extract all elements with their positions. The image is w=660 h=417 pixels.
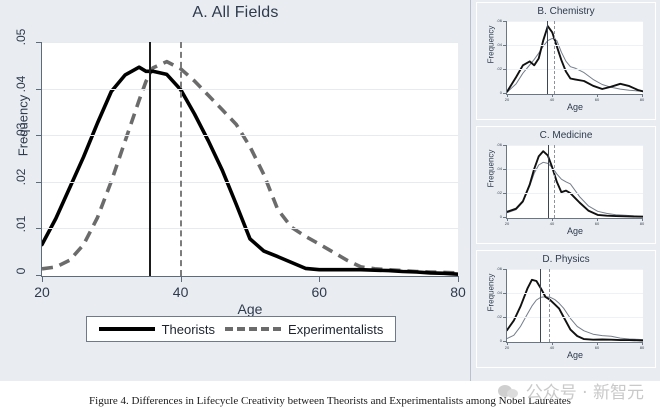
legend-item-theorists: Theorists: [99, 322, 215, 337]
panel-c-y-axis: [506, 145, 507, 219]
y-tick-004: [36, 89, 42, 90]
x-tick-label-20: 20: [22, 284, 62, 300]
panel-a-curves: [42, 42, 458, 276]
panel-b-x-axis-title: Age: [507, 102, 643, 112]
legend-item-experimentalists: Experimentalists: [225, 322, 383, 337]
y-tick-label-001: .01: [14, 211, 28, 237]
y-tick-label-000: 0: [14, 258, 28, 284]
reference-line-theorists-mean: [149, 42, 151, 276]
x-tick-label-40: 40: [161, 284, 201, 300]
panel-a-x-axis: [42, 276, 458, 277]
panel-physics: D. Physics .06 .04 .02 0: [476, 250, 656, 368]
panel-d-x-axis-title: Age: [507, 350, 643, 360]
y-tick-003: [36, 135, 42, 136]
panel-a-plot-area: [42, 42, 458, 276]
panel-c-y-axis-title: Frequency: [487, 139, 496, 199]
legend: Theorists Experimentalists: [86, 316, 396, 342]
panel-chemistry: B. Chemistry .06 .04 .02 0: [476, 2, 656, 120]
reference-line-c-theorists-mean: [548, 145, 549, 218]
panel-b-curves: [507, 21, 643, 94]
gridline-d-006: [507, 269, 643, 270]
panel-b-y-axis-title: Frequency: [487, 15, 496, 75]
y-tick-b-006: [503, 21, 507, 22]
gridline-c-004: [507, 169, 643, 170]
panel-d-x-axis: [507, 342, 643, 343]
legend-label-theorists: Theorists: [162, 322, 215, 337]
gridline-004: [42, 89, 458, 90]
figure-panel: A. All Fields .05: [0, 0, 660, 381]
legend-swatch-solid-line-icon: [99, 327, 155, 331]
panel-d-y-axis: [506, 269, 507, 343]
x-tick-40: [181, 276, 182, 282]
y-tick-label-b-000: 0: [487, 90, 502, 95]
y-tick-002: [36, 182, 42, 183]
y-tick-d-004: [503, 293, 507, 294]
gridline-b-002: [507, 69, 643, 70]
legend-label-experimentalists: Experimentalists: [288, 322, 383, 337]
x-tick-label-60: 60: [299, 284, 339, 300]
y-tick-c-002: [503, 193, 507, 194]
panel-b-plot-area: [507, 21, 643, 94]
panel-d-curves: [507, 269, 643, 342]
gridline-005: [42, 42, 458, 43]
reference-line-d-experimentalists-mean: [549, 269, 550, 342]
panel-b-x-axis: [507, 94, 643, 95]
legend-swatch-dashed-line-icon: [225, 327, 281, 331]
panel-c-x-axis: [507, 218, 643, 219]
x-tick-20: [42, 276, 43, 282]
gridline-b-004: [507, 45, 643, 46]
panel-b-title: B. Chemistry: [477, 6, 655, 17]
gridline-c-002: [507, 193, 643, 194]
gridline-d-002: [507, 317, 643, 318]
y-tick-d-002: [503, 317, 507, 318]
panel-d-title: D. Physics: [477, 254, 655, 265]
panel-b-y-axis: [506, 21, 507, 95]
panel-d-plot-area: [507, 269, 643, 342]
panel-c-x-axis-title: Age: [507, 226, 643, 236]
y-tick-005: [36, 42, 42, 43]
reference-line-experimentalists-mean: [180, 42, 182, 276]
wechat-icon: [498, 383, 520, 399]
y-tick-b-002: [503, 69, 507, 70]
panel-d-y-axis-title: Frequency: [487, 263, 496, 323]
reference-line-b-experimentalists-mean: [554, 21, 555, 94]
panel-c-title: C. Medicine: [477, 130, 655, 141]
watermark: 公众号 · 新智元: [498, 378, 644, 403]
panel-a-y-axis-title: Frequency: [16, 81, 31, 171]
y-tick-label-005: .05: [14, 24, 28, 50]
gridline-003: [42, 135, 458, 136]
curve-c-theorists: [507, 151, 643, 217]
gridline-d-004: [507, 293, 643, 294]
x-tick-80: [458, 276, 459, 282]
panel-medicine: C. Medicine .06 .04 .02 0: [476, 126, 656, 244]
y-tick-c-004: [503, 169, 507, 170]
panel-c-curves: [507, 145, 643, 218]
curve-b-theorists: [507, 26, 643, 92]
reference-line-b-theorists-mean: [547, 21, 548, 94]
reference-line-c-experimentalists-mean: [554, 145, 555, 218]
y-tick-c-006: [503, 145, 507, 146]
y-tick-label-c-000: 0: [487, 214, 502, 219]
y-tick-label-d-000: 0: [487, 338, 502, 343]
y-tick-b-004: [503, 45, 507, 46]
side-panels: B. Chemistry .06 .04 .02 0: [472, 0, 660, 381]
y-tick-001: [36, 228, 42, 229]
reference-line-d-theorists-mean: [540, 269, 541, 342]
curve-theorists: [42, 67, 458, 274]
curve-d-theorists: [507, 280, 643, 341]
panel-all-fields: A. All Fields .05: [0, 0, 471, 381]
panel-a-title: A. All Fields: [0, 4, 471, 22]
gridline-b-006: [507, 21, 643, 22]
x-tick-60: [319, 276, 320, 282]
gridline-002: [42, 182, 458, 183]
panel-a-y-axis: [41, 42, 42, 277]
panel-a-x-axis-title: Age: [42, 301, 458, 317]
panel-c-plot-area: [507, 145, 643, 218]
gridline-001: [42, 228, 458, 229]
gridline-c-006: [507, 145, 643, 146]
y-tick-d-006: [503, 269, 507, 270]
watermark-text: 公众号 · 新智元: [526, 378, 644, 403]
